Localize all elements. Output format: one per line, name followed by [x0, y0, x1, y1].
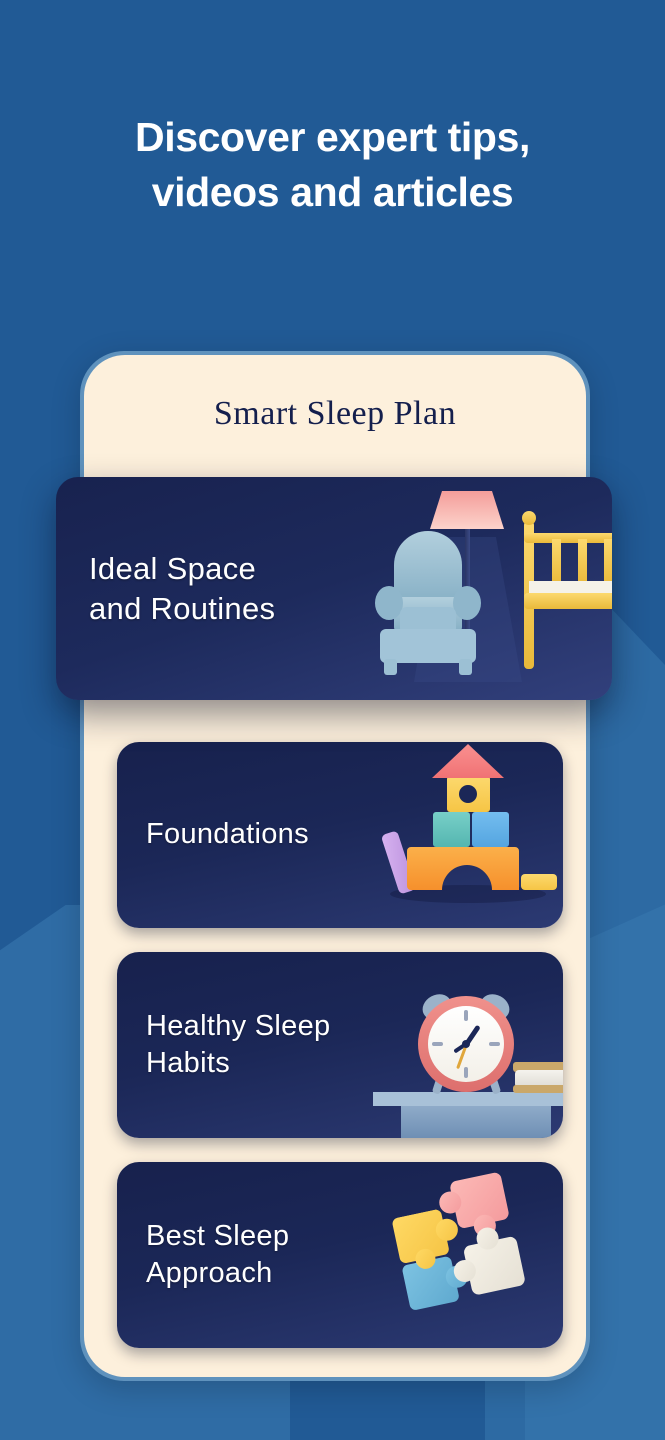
puzzle-pieces-icon: [373, 1162, 563, 1348]
topic-card-healthy-sleep-habits[interactable]: Healthy Sleep Habits: [117, 952, 563, 1138]
alarm-clock-icon: [373, 952, 563, 1138]
app-screenshot: Discover expert tips, videos and article…: [0, 0, 665, 1440]
page-title: Smart Sleep Plan: [84, 395, 586, 433]
featured-topic-card-ideal-space-and-routines[interactable]: Ideal Space and Routines: [56, 477, 612, 700]
headline-line-2: videos and articles: [0, 165, 665, 220]
topic-card-foundations[interactable]: Foundations: [117, 742, 563, 928]
topic-card-label: Best Sleep Approach: [146, 1218, 289, 1292]
topic-card-list: Foundations: [117, 742, 563, 1348]
topic-card-best-sleep-approach[interactable]: Best Sleep Approach: [117, 1162, 563, 1348]
headline: Discover expert tips, videos and article…: [0, 110, 665, 221]
featured-card-label: Ideal Space and Routines: [89, 549, 275, 628]
headline-line-1: Discover expert tips,: [0, 110, 665, 165]
topic-card-label: Healthy Sleep Habits: [146, 1008, 330, 1082]
building-blocks-icon: [373, 742, 563, 928]
bedroom-furniture-icon: [372, 477, 612, 700]
topic-card-label: Foundations: [146, 816, 309, 853]
